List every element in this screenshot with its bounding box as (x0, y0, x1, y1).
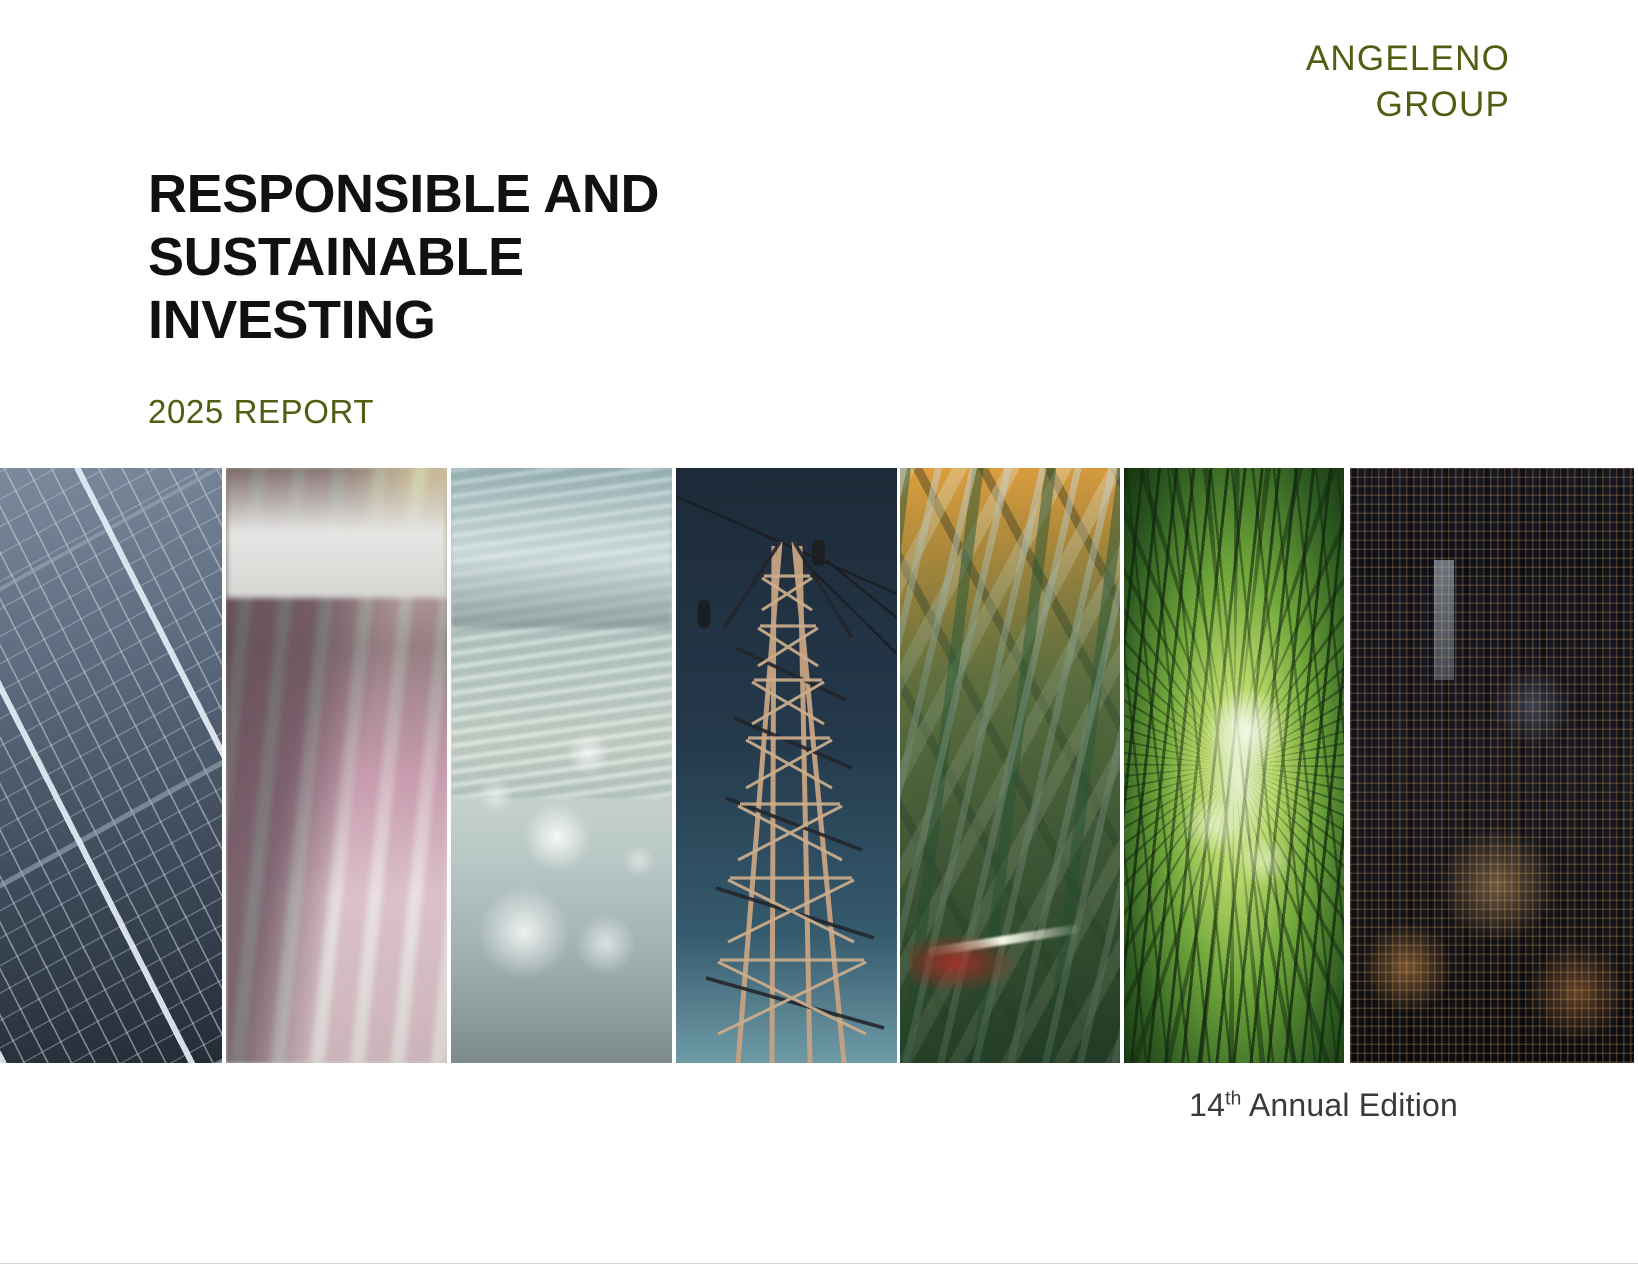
canopy-sky-gaps (1124, 468, 1344, 1063)
strip-panel-bamboo-forest (1124, 468, 1344, 1063)
company-logo: ANGELENO GROUP (1306, 36, 1510, 128)
strip-panel-night-cityscape (1350, 468, 1634, 1063)
transmission-tower-structure (676, 468, 897, 1063)
title-line-1: RESPONSIBLE AND (148, 163, 908, 226)
edition-label: 14th Annual Edition (1189, 1087, 1458, 1124)
city-window-lights (1350, 468, 1634, 1063)
strip-panel-industrial-plant (900, 468, 1120, 1063)
logo-line-1: ANGELENO (1306, 36, 1510, 82)
water-foam (451, 468, 672, 628)
solar-mounting-rails (0, 468, 222, 1063)
report-cover-page: ANGELENO GROUP RESPONSIBLE AND SUSTAINAB… (0, 0, 1638, 1264)
plant-red-valve (910, 933, 1020, 993)
strip-panel-battery-cells (226, 468, 447, 1063)
title-line-3: INVESTING (148, 289, 908, 352)
page-title: RESPONSIBLE AND SUSTAINABLE INVESTING (148, 163, 908, 353)
strip-panel-solar-panels (0, 468, 222, 1063)
edition-ordinal: th (1225, 1088, 1241, 1109)
report-subtitle: 2025 REPORT (148, 353, 908, 431)
cover-image-strip (0, 468, 1638, 1063)
cover-title-block: RESPONSIBLE AND SUSTAINABLE INVESTING 20… (148, 163, 908, 431)
strip-panel-transmission-tower (676, 468, 897, 1063)
title-line-2: SUSTAINABLE (148, 226, 908, 289)
strip-panel-water-splash (451, 468, 672, 1063)
logo-line-2: GROUP (1306, 82, 1510, 128)
battery-conveyor-tray (226, 468, 447, 598)
tallest-skyscraper (1434, 560, 1454, 680)
edition-number: 14 (1189, 1087, 1225, 1123)
edition-text: Annual Edition (1242, 1087, 1459, 1123)
